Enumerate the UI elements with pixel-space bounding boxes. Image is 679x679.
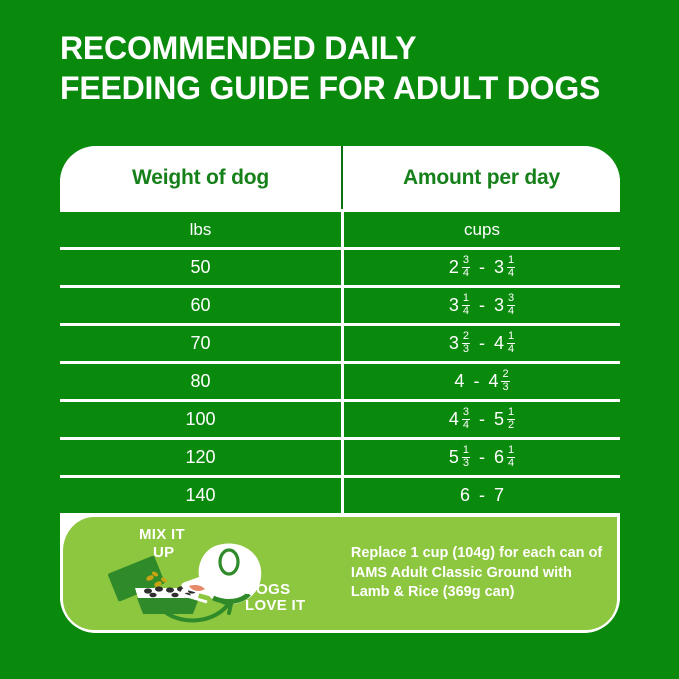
numerator: 1	[462, 445, 470, 456]
table-row: 70323-414	[60, 323, 620, 361]
numerator: 1	[507, 331, 515, 342]
fraction: 14	[507, 255, 515, 278]
table-row: 804-423	[60, 361, 620, 399]
whole-number: 3	[449, 295, 459, 316]
table-row: 60314-334	[60, 285, 620, 323]
range-separator: -	[479, 447, 485, 468]
denominator: 4	[507, 305, 515, 317]
numerator: 3	[507, 293, 515, 304]
page-title: RECOMMENDED DAILY FEEDING GUIDE FOR ADUL…	[60, 28, 660, 109]
range-separator: -	[473, 371, 479, 392]
table-row: 1406-7	[60, 475, 620, 513]
cell-weight: 140	[60, 478, 341, 513]
denominator: 4	[507, 457, 515, 469]
column-header-amount: Amount per day	[343, 146, 620, 209]
whole-number: 5	[494, 409, 504, 430]
range-separator: -	[479, 333, 485, 354]
numerator: 1	[507, 445, 515, 456]
amount-value: 434-512	[449, 408, 515, 431]
fraction: 23	[462, 331, 470, 354]
cell-weight: 70	[60, 326, 341, 361]
whole-number: 4	[488, 371, 498, 392]
range-separator: -	[479, 485, 485, 506]
cell-amount: 434-512	[344, 402, 620, 437]
amount-value: 314-334	[449, 294, 515, 317]
unit-weight: lbs	[60, 212, 341, 247]
fraction: 34	[462, 407, 470, 430]
whole-number: 6	[494, 447, 504, 468]
numerator: 3	[462, 407, 470, 418]
range-separator: -	[479, 295, 485, 316]
denominator: 4	[462, 267, 470, 279]
amount-value: 4-423	[454, 370, 509, 393]
table-header-row: Weight of dog Amount per day	[60, 146, 620, 209]
fraction: 34	[507, 293, 515, 316]
fraction: 14	[507, 331, 515, 354]
denominator: 4	[507, 343, 515, 355]
cell-amount: 323-414	[344, 326, 620, 361]
whole-number: 6	[460, 485, 470, 506]
numerator: 2	[462, 331, 470, 342]
column-header-weight: Weight of dog	[60, 146, 343, 209]
amount-value: 234-314	[449, 256, 515, 279]
cell-weight: 60	[60, 288, 341, 323]
cell-weight: 120	[60, 440, 341, 475]
fraction: 14	[507, 445, 515, 468]
fraction: 12	[507, 407, 515, 430]
denominator: 4	[462, 305, 470, 317]
denominator: 4	[507, 267, 515, 279]
feeding-table-card: Weight of dog Amount per day lbs cups 50…	[60, 146, 620, 633]
whole-number: 7	[494, 485, 504, 506]
denominator: 3	[462, 343, 470, 355]
fraction: 23	[501, 369, 509, 392]
cell-weight: 80	[60, 364, 341, 399]
cell-weight: 50	[60, 250, 341, 285]
table-row-units: lbs cups	[60, 209, 620, 247]
whole-number: 3	[449, 333, 459, 354]
cell-amount: 234-314	[344, 250, 620, 285]
cell-weight: 100	[60, 402, 341, 437]
numerator: 2	[501, 369, 509, 380]
footer-note: Replace 1 cup (104g) for each can of IAM…	[343, 544, 617, 604]
cell-amount: 4-423	[344, 364, 620, 399]
unit-amount: cups	[344, 212, 620, 247]
table-row: 100434-512	[60, 399, 620, 437]
numerator: 3	[462, 255, 470, 266]
cell-amount: 314-334	[344, 288, 620, 323]
table-row: 50234-314	[60, 247, 620, 285]
whole-number: 3	[494, 257, 504, 278]
denominator: 4	[462, 419, 470, 431]
amount-value: 323-414	[449, 332, 515, 355]
whole-number: 4	[449, 409, 459, 430]
footer-panel: MIX IT UP DOGS LOVE IT Replace 1 cup (10…	[60, 517, 620, 633]
whole-number: 5	[449, 447, 459, 468]
numerator: 1	[507, 255, 515, 266]
mix-it-label: MIX IT	[139, 526, 185, 543]
cell-amount: 6-7	[344, 478, 620, 513]
cell-amount: 513-614	[344, 440, 620, 475]
amount-value: 513-614	[449, 446, 515, 469]
whole-number: 2	[449, 257, 459, 278]
numerator: 1	[507, 407, 515, 418]
table-row: 120513-614	[60, 437, 620, 475]
whole-number: 4	[454, 371, 464, 392]
range-separator: -	[479, 257, 485, 278]
fraction: 13	[462, 445, 470, 468]
denominator: 3	[462, 457, 470, 469]
denominator: 2	[507, 419, 515, 431]
table-body: lbs cups 50234-31460314-33470323-414804-…	[60, 209, 620, 513]
whole-number: 3	[494, 295, 504, 316]
mix-it-up-graphic: MIX IT UP DOGS LOVE IT	[63, 516, 343, 632]
whole-number: 4	[494, 333, 504, 354]
range-separator: -	[479, 409, 485, 430]
dogs-love-it-label: DOGS LOVE IT	[245, 582, 305, 616]
feeding-guide-page: RECOMMENDED DAILY FEEDING GUIDE FOR ADUL…	[0, 0, 679, 679]
denominator: 3	[501, 381, 509, 393]
numerator: 1	[462, 293, 470, 304]
fraction: 14	[462, 293, 470, 316]
mix-up-label: UP	[153, 544, 174, 561]
amount-value: 6-7	[460, 485, 504, 506]
fraction: 34	[462, 255, 470, 278]
